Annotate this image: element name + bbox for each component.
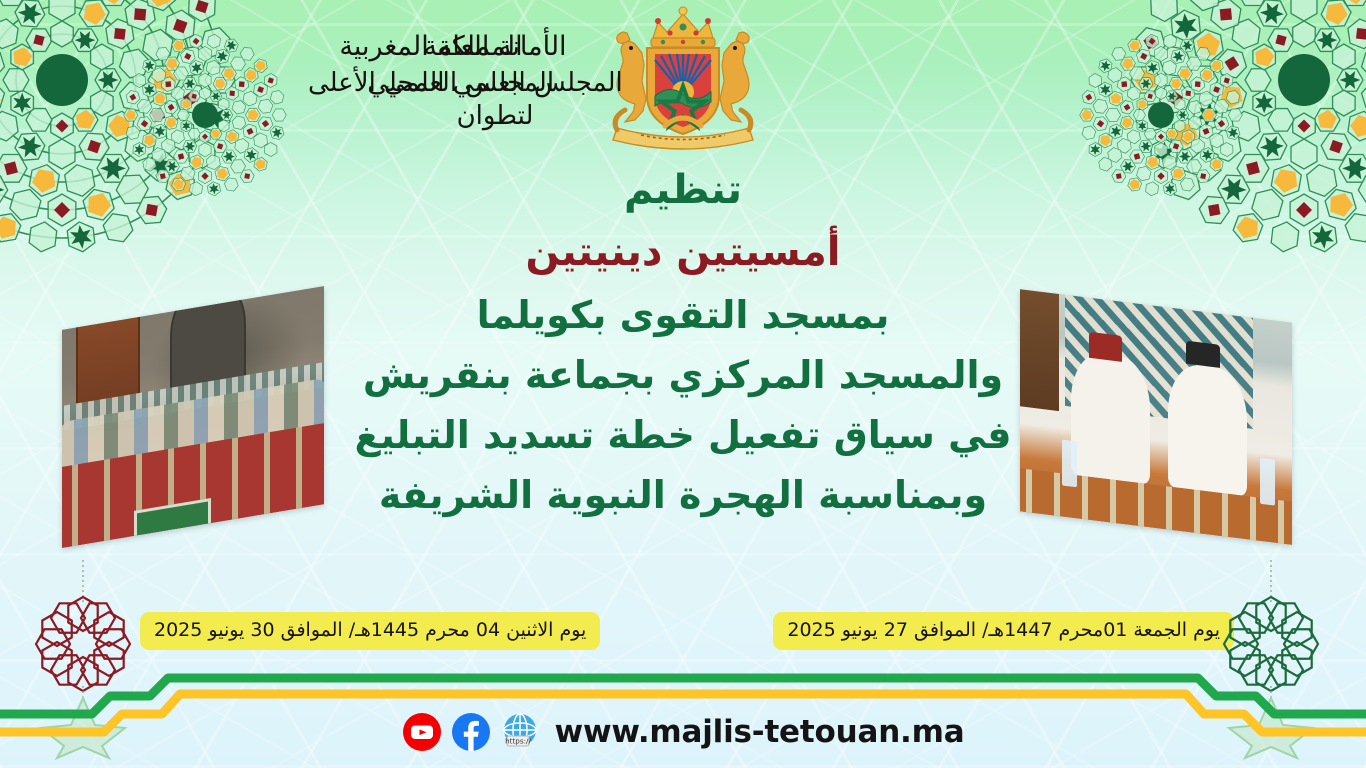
facebook-icon[interactable] [451, 712, 491, 752]
photo-right-content [1020, 289, 1292, 544]
photo-right-water-bottle-two [1260, 458, 1275, 505]
photo-right-speaker-two [1168, 362, 1247, 497]
photo-speakers [1020, 289, 1292, 544]
svg-text:https://: https:// [505, 737, 531, 746]
date-badge-monday: يوم الاثنين 04 محرم 1445هـ/ الموافق 30 ي… [140, 612, 600, 650]
title-line-organization: تنظيم [0, 170, 1366, 210]
photo-mosque-congregation [62, 286, 324, 548]
header-secretariat-block: الأمانة العامة المجلس العلمي المحلي لتطو… [330, 30, 660, 133]
header-secretariat-line1: الأمانة العامة [330, 30, 660, 65]
photo-right-column [1020, 289, 1059, 410]
poster-canvas: المملكة المغربية المجلس العلمي الأعلى ال… [0, 0, 1366, 768]
photo-right-red-fez [1089, 332, 1123, 362]
photo-right-speaker-one [1071, 350, 1150, 485]
website-url[interactable]: www.majlis-tetouan.ma [555, 714, 965, 750]
photo-right-carpet [1020, 466, 1292, 544]
footer-bar: https:// www.majlis-tetouan.ma [0, 712, 1366, 752]
youtube-icon[interactable] [402, 712, 442, 752]
header-secretariat-line2: المجلس العلمي المحلي لتطوان [330, 67, 660, 134]
globe-https-icon[interactable]: https:// [500, 712, 540, 752]
photo-right-black-cap [1186, 341, 1220, 368]
title-line-event-name: أمسيتين دينيتين [0, 232, 1366, 272]
photo-right-water-bottle-one [1062, 439, 1077, 486]
photo-left-content [62, 286, 324, 548]
date-badge-friday: يوم الجمعة 01محرم 1447هـ/ الموافق 27 يون… [773, 612, 1234, 650]
